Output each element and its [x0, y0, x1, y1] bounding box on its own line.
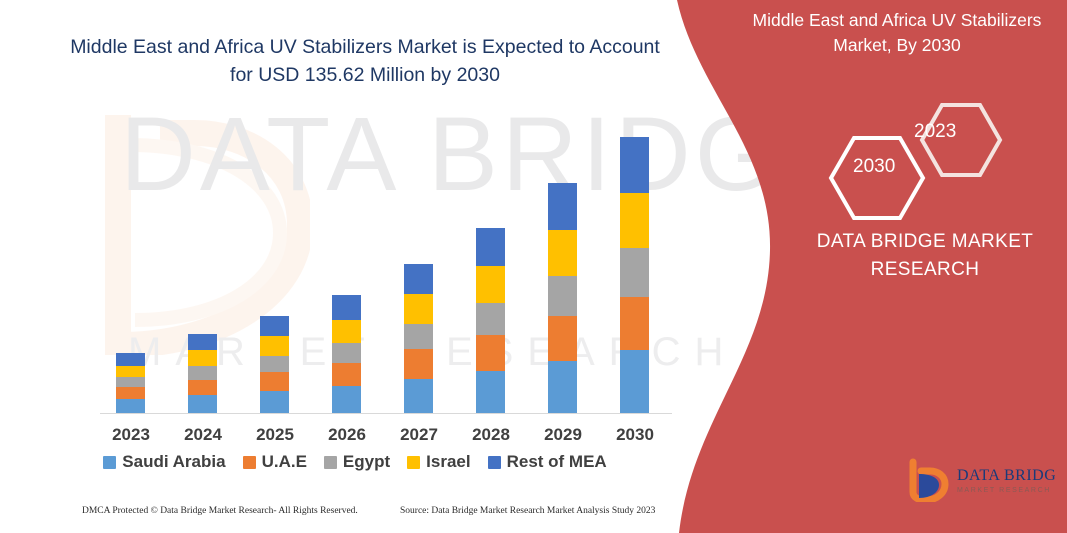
- bar-segment-rest-of-mea-2028: [476, 228, 505, 266]
- brand-panel-title: Middle East and Africa UV Stabilizers Ma…: [747, 8, 1047, 59]
- bar-segment-u-a-e-2026: [332, 363, 361, 386]
- bar-segment-israel-2029: [548, 230, 577, 276]
- bar-2029: [548, 183, 577, 413]
- bar-2023: [116, 353, 145, 413]
- legend-swatch-icon: [243, 456, 256, 469]
- bar-segment-israel-2024: [188, 350, 217, 365]
- brand-name: DATA BRIDGE MARKET RESEARCH: [800, 228, 1050, 283]
- legend-label: Rest of MEA: [507, 452, 607, 472]
- legend-item-israel[interactable]: Israel: [407, 452, 470, 472]
- bar-segment-u-a-e-2023: [116, 387, 145, 399]
- bar-segment-israel-2027: [404, 294, 433, 323]
- legend-item-u-a-e[interactable]: U.A.E: [243, 452, 307, 472]
- bar-segment-egypt-2030: [620, 248, 649, 297]
- x-axis-label-2028: 2028: [455, 425, 527, 445]
- legend-swatch-icon: [488, 456, 501, 469]
- legend-label: U.A.E: [262, 452, 307, 472]
- bar-2025: [260, 316, 289, 413]
- x-axis-label-2030: 2030: [599, 425, 671, 445]
- x-axis-label-2029: 2029: [527, 425, 599, 445]
- data-bridge-logo-icon: DATA BRIDGE MARKET RESEARCH: [905, 458, 1055, 502]
- bar-segment-israel-2025: [260, 336, 289, 355]
- footer-source: Source: Data Bridge Market Research Mark…: [400, 506, 655, 516]
- legend-swatch-icon: [103, 456, 116, 469]
- hexagon-2030-icon: [831, 138, 923, 218]
- bar-segment-rest-of-mea-2023: [116, 353, 145, 366]
- bar-2030: [620, 137, 649, 413]
- bar-2026: [332, 295, 361, 413]
- bar-segment-israel-2028: [476, 266, 505, 303]
- bar-segment-u-a-e-2024: [188, 380, 217, 395]
- bar-segment-rest-of-mea-2027: [404, 264, 433, 295]
- bar-segment-israel-2030: [620, 193, 649, 248]
- bar-segment-saudi-arabia-2028: [476, 371, 505, 413]
- x-axis-label-2023: 2023: [95, 425, 167, 445]
- bar-segment-saudi-arabia-2026: [332, 386, 361, 413]
- bar-2028: [476, 228, 505, 413]
- bar-segment-egypt-2024: [188, 366, 217, 380]
- bar-segment-rest-of-mea-2024: [188, 334, 217, 351]
- bar-segment-u-a-e-2030: [620, 297, 649, 351]
- bar-segment-saudi-arabia-2024: [188, 395, 217, 413]
- bar-segment-saudi-arabia-2027: [404, 379, 433, 414]
- bar-segment-egypt-2028: [476, 303, 505, 335]
- hexagon-badges: 2030 2023: [812, 100, 1012, 220]
- bar-2024: [188, 334, 217, 413]
- chart-legend: Saudi ArabiaU.A.EEgyptIsraelRest of MEA: [0, 452, 710, 472]
- bar-segment-u-a-e-2028: [476, 335, 505, 371]
- x-axis-label-2025: 2025: [239, 425, 311, 445]
- bar-segment-saudi-arabia-2030: [620, 350, 649, 413]
- legend-item-rest-of-mea[interactable]: Rest of MEA: [488, 452, 607, 472]
- bar-segment-egypt-2025: [260, 356, 289, 373]
- bar-segment-saudi-arabia-2029: [548, 361, 577, 413]
- legend-label: Israel: [426, 452, 470, 472]
- svg-text:DATA BRIDGE: DATA BRIDGE: [957, 467, 1055, 484]
- bar-2027: [404, 264, 433, 413]
- bar-segment-saudi-arabia-2025: [260, 391, 289, 413]
- bar-segment-egypt-2023: [116, 377, 145, 387]
- legend-item-saudi-arabia[interactable]: Saudi Arabia: [103, 452, 225, 472]
- bar-segment-rest-of-mea-2030: [620, 137, 649, 193]
- x-axis-label-2024: 2024: [167, 425, 239, 445]
- bar-segment-rest-of-mea-2029: [548, 183, 577, 230]
- bar-segment-egypt-2027: [404, 324, 433, 350]
- bar-segment-u-a-e-2029: [548, 316, 577, 361]
- legend-label: Egypt: [343, 452, 390, 472]
- legend-swatch-icon: [407, 456, 420, 469]
- bar-segment-israel-2023: [116, 366, 145, 378]
- bar-segment-egypt-2029: [548, 276, 577, 316]
- x-axis-labels: 20232024202520262027202820292030: [0, 425, 710, 449]
- bar-segment-rest-of-mea-2026: [332, 295, 361, 319]
- infographic-root: DATA BRIDGE MARKET RESEARCH Middle East …: [0, 0, 1067, 533]
- bar-segment-egypt-2026: [332, 343, 361, 363]
- x-axis-line: [100, 413, 672, 414]
- bar-segment-u-a-e-2025: [260, 372, 289, 391]
- legend-swatch-icon: [324, 456, 337, 469]
- x-axis-label-2026: 2026: [311, 425, 383, 445]
- bar-segment-u-a-e-2027: [404, 349, 433, 378]
- bar-segment-rest-of-mea-2025: [260, 316, 289, 336]
- bar-segment-saudi-arabia-2023: [116, 399, 145, 413]
- hexagon-2030-label: 2030: [853, 156, 895, 178]
- hexagon-2023-label: 2023: [914, 121, 956, 143]
- legend-label: Saudi Arabia: [122, 452, 225, 472]
- x-axis-label-2027: 2027: [383, 425, 455, 445]
- legend-item-egypt[interactable]: Egypt: [324, 452, 390, 472]
- footer-copyright: DMCA Protected © Data Bridge Market Rese…: [82, 506, 358, 516]
- svg-text:MARKET RESEARCH: MARKET RESEARCH: [957, 487, 1051, 494]
- hexagon-icons: [812, 100, 1012, 220]
- bar-segment-israel-2026: [332, 320, 361, 343]
